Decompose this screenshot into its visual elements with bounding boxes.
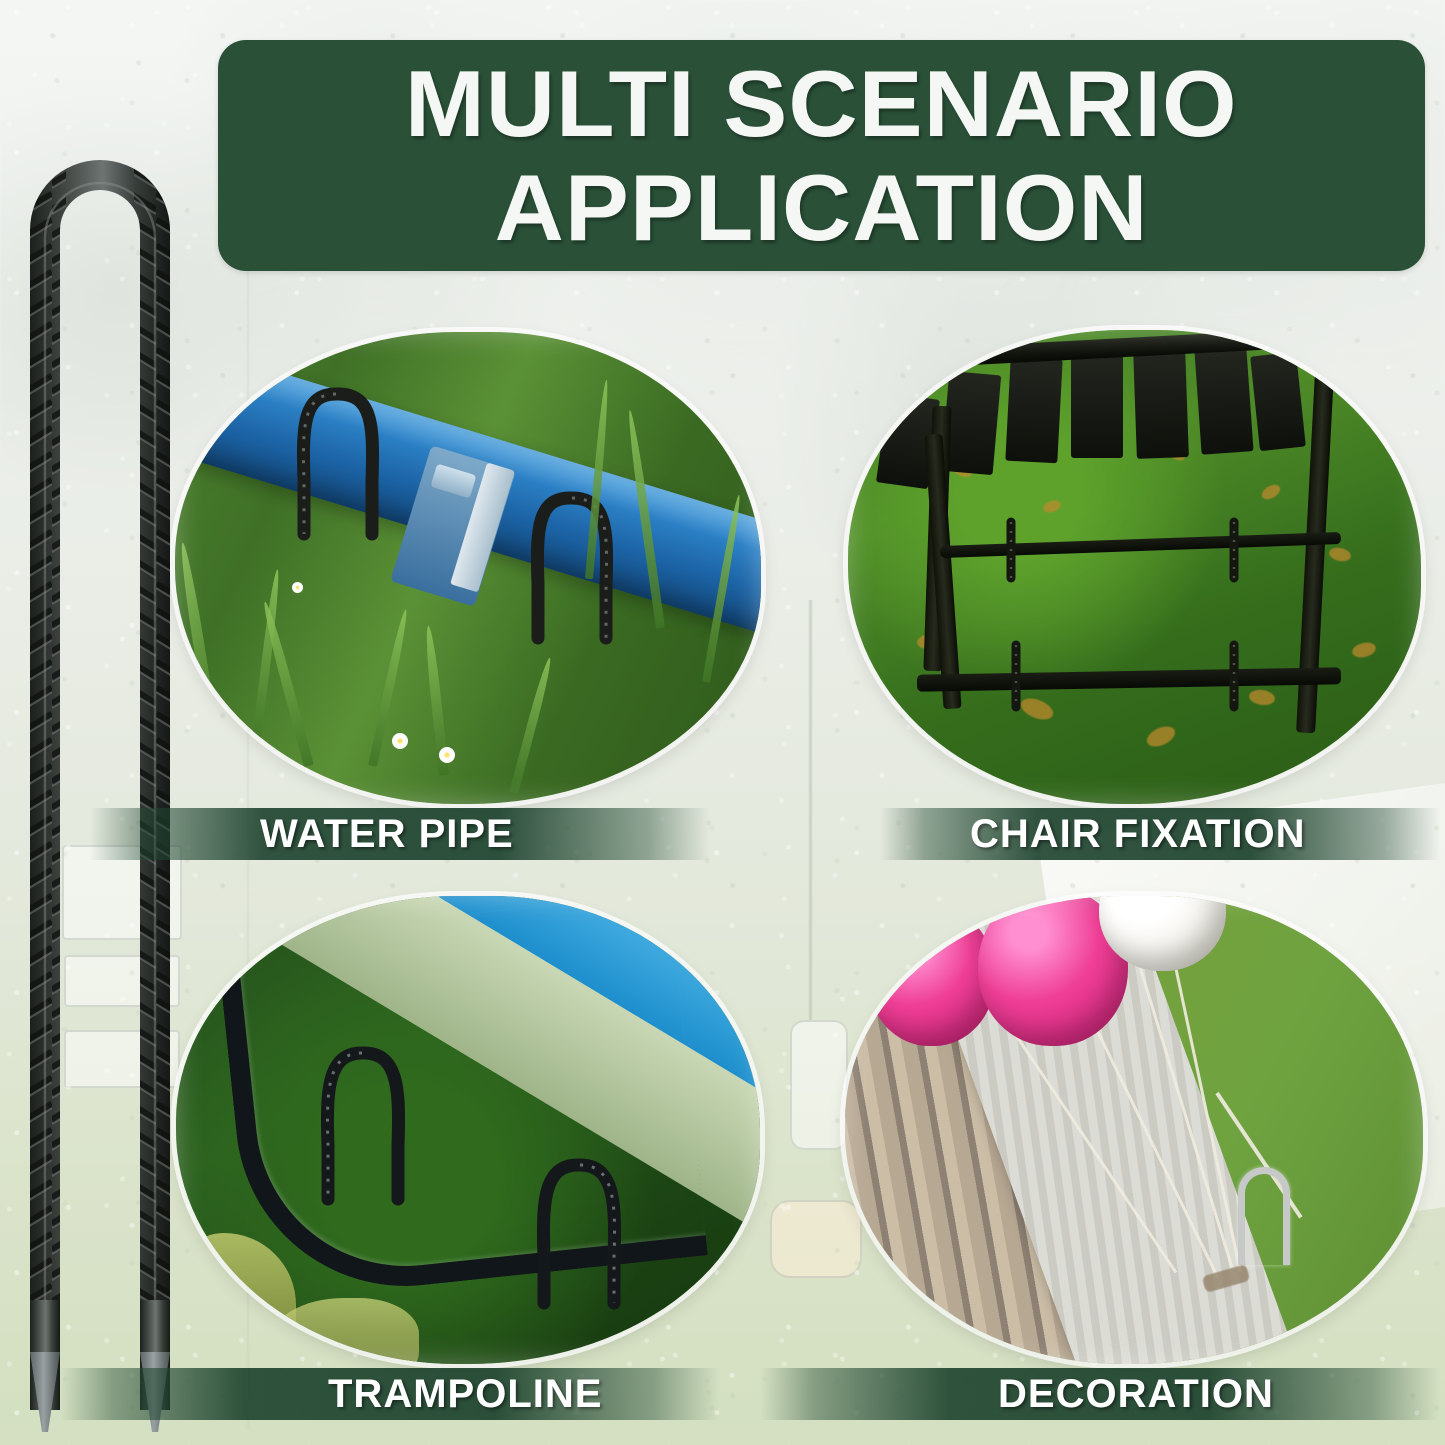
balloon: [868, 905, 995, 1045]
title-banner: MULTI SCENARIO APPLICATION: [218, 40, 1425, 271]
bench-slat: [1071, 354, 1123, 458]
scene-card-chair-fixation[interactable]: [848, 330, 1421, 804]
scene-label-text: CHAIR FIXATION: [970, 812, 1305, 857]
bench-slat: [1133, 348, 1188, 459]
page-title-line-2: APPLICATION: [495, 161, 1149, 255]
u-shaped-ground-stake: [1238, 1167, 1290, 1265]
scene-label-chair-fixation: CHAIR FIXATION: [880, 808, 1440, 860]
rebar-stake-icon: [298, 384, 415, 611]
scene-label-decoration: DECORATION: [760, 1368, 1440, 1420]
bench-slat: [1006, 357, 1063, 464]
scene-label-text: TRAMPOLINE: [328, 1372, 602, 1417]
bench-slat: [1194, 347, 1253, 455]
scene-photo-chair-fixation: [848, 330, 1421, 804]
rebar-stake-product-image: [0, 60, 270, 1440]
scene-label-water-pipe: WATER PIPE: [90, 808, 710, 860]
scene-label-trampoline: TRAMPOLINE: [60, 1368, 720, 1420]
scene-label-text: WATER PIPE: [260, 812, 514, 857]
scene-photo-decoration: [845, 896, 1423, 1364]
bench-slat: [1250, 352, 1305, 451]
scene-label-text: DECORATION: [998, 1372, 1274, 1417]
rebar-stake-icon: [1226, 643, 1266, 719]
daisy-flower: [392, 733, 408, 749]
daisy-flower: [439, 747, 455, 763]
page-title-line-1: MULTI SCENARIO: [405, 57, 1238, 151]
rebar-u-body: [24, 60, 176, 1440]
rebar-stake-icon: [1003, 520, 1043, 586]
rebar-stake-icon: [1226, 520, 1266, 586]
rebar-left-tip: [30, 1300, 60, 1432]
scene-card-decoration[interactable]: [845, 896, 1423, 1364]
rebar-stake-icon: [538, 1153, 643, 1350]
rebar-stake-icon: [1008, 643, 1048, 719]
rebar-stake-icon: [322, 1041, 427, 1247]
